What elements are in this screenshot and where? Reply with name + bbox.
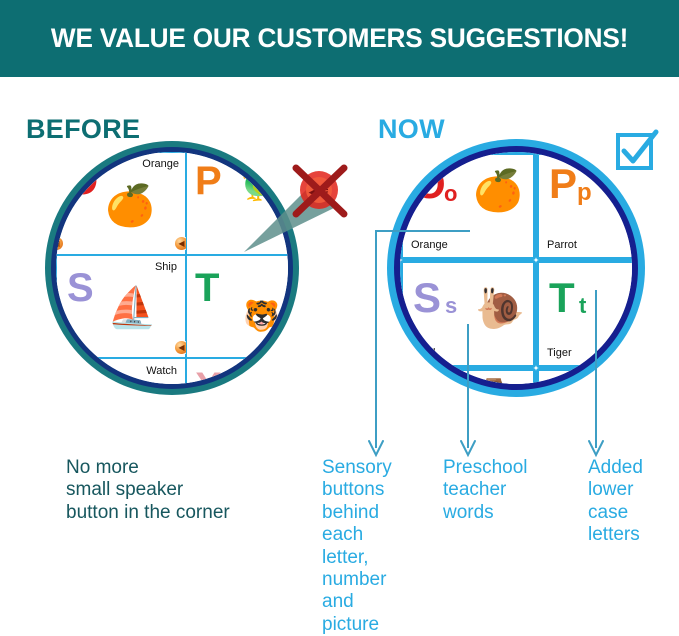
caption-sensory-buttons: Sensory buttons behind each letter, numb… bbox=[322, 457, 420, 636]
caption-line: No more bbox=[66, 457, 326, 479]
before-letter-o: O bbox=[67, 161, 98, 201]
before-letter-w: W bbox=[65, 367, 105, 384]
caption-line: behind bbox=[322, 502, 420, 524]
now-cell-x: X bbox=[536, 368, 632, 384]
now-label: NOW bbox=[378, 114, 445, 145]
now-word-snail: Snail bbox=[411, 347, 435, 359]
now-chart-grid: O o Orange 🍊 P p Parrot S s Snail 🐌 bbox=[400, 152, 632, 384]
before-label: BEFORE bbox=[26, 114, 140, 145]
now-cell-s: S s Snail 🐌 bbox=[400, 260, 536, 368]
caption-line: each bbox=[322, 524, 420, 546]
now-alphabet-chart: O o Orange 🍊 P p Parrot S s Snail 🐌 bbox=[400, 152, 632, 384]
crossed-out-speaker-callout: ◀≡ bbox=[222, 168, 352, 268]
banner-title: WE VALUE OUR CUSTOMERS SUGGESTIONS! bbox=[51, 23, 628, 54]
caption-line: Sensory bbox=[322, 457, 420, 479]
before-cell-s: S Ship ⛵ ◀ ◀ bbox=[56, 255, 186, 358]
now-cell-o: O o Orange 🍊 bbox=[400, 152, 536, 260]
caption-line: small speaker bbox=[66, 479, 326, 501]
before-speaker-button-s[interactable]: ◀ bbox=[56, 341, 63, 354]
before-cell-x: X bbox=[186, 358, 288, 384]
before-letter-p: P bbox=[195, 161, 222, 201]
caption-preschool-words: Preschool teacher words bbox=[443, 457, 553, 524]
before-speaker-button-o[interactable]: ◀ bbox=[56, 237, 63, 250]
now-cell-p: P p Parrot bbox=[536, 152, 632, 260]
now-word-tiger: Tiger bbox=[547, 347, 572, 359]
caption-line: picture bbox=[322, 614, 420, 636]
now-letter-p-lower: p bbox=[577, 181, 592, 205]
before-letter-s: S bbox=[67, 268, 94, 308]
poster-canvas: WE VALUE OUR CUSTOMERS SUGGESTIONS! BEFO… bbox=[0, 0, 679, 636]
before-letter-t: T bbox=[195, 268, 219, 308]
now-letter-s-lower: s bbox=[445, 295, 457, 317]
now-letter-o-lower: o bbox=[444, 183, 457, 205]
caption-line: number bbox=[322, 569, 420, 591]
now-letter-x-upper: X bbox=[549, 379, 573, 384]
before-letter-x: X bbox=[195, 367, 222, 384]
caption-line: teacher bbox=[443, 479, 553, 501]
now-letter-w-upper: W bbox=[413, 379, 453, 384]
before-word-ship: Ship bbox=[155, 261, 177, 273]
caption-line: button in the corner bbox=[66, 502, 326, 524]
now-letter-t-lower: t bbox=[579, 295, 586, 317]
now-word-orange: Orange bbox=[411, 239, 448, 251]
caption-line: words bbox=[443, 502, 553, 524]
header-banner: WE VALUE OUR CUSTOMERS SUGGESTIONS! bbox=[0, 0, 679, 77]
caption-line: letters bbox=[588, 524, 674, 546]
before-word-watch: Watch bbox=[146, 365, 177, 377]
caption-line: buttons bbox=[322, 479, 420, 501]
before-picture-orange: 🍊 bbox=[105, 186, 155, 226]
caption-line: Added bbox=[588, 457, 674, 479]
caption-line: and bbox=[322, 591, 420, 613]
now-cell-t: T t Tiger bbox=[536, 260, 632, 368]
before-picture-ship: ⛵ bbox=[107, 288, 157, 328]
caption-line: case bbox=[588, 502, 674, 524]
before-picture-tiger: 🐯 bbox=[243, 302, 280, 332]
now-letter-t-upper: T bbox=[549, 277, 575, 319]
caption-line: lower bbox=[588, 479, 674, 501]
caption-line: letter, bbox=[322, 547, 420, 569]
before-cell-o: O Orange 🍊 ◀ ◀ bbox=[56, 152, 186, 255]
before-cell-t: T 🐯 bbox=[186, 255, 288, 358]
before-cell-w: W Watch ⌚ bbox=[56, 358, 186, 384]
now-word-parrot: Parrot bbox=[547, 239, 577, 251]
now-magnifier-circle: O o Orange 🍊 P p Parrot S s Snail 🐌 bbox=[400, 152, 632, 384]
now-cell-w: W ⌚ bbox=[400, 368, 536, 384]
now-letter-p-upper: P bbox=[549, 163, 577, 205]
before-word-orange: Orange bbox=[142, 158, 179, 170]
now-letter-o-upper: O bbox=[413, 163, 446, 205]
caption-no-more-speaker: No more small speaker button in the corn… bbox=[66, 457, 326, 524]
now-picture-watch: ⌚ bbox=[475, 381, 512, 384]
now-picture-snail: 🐌 bbox=[475, 289, 525, 329]
caption-added-lowercase: Added lower case letters bbox=[588, 457, 674, 547]
caption-line: Preschool bbox=[443, 457, 553, 479]
now-picture-orange: 🍊 bbox=[473, 171, 523, 211]
now-letter-s-upper: S bbox=[413, 277, 441, 319]
